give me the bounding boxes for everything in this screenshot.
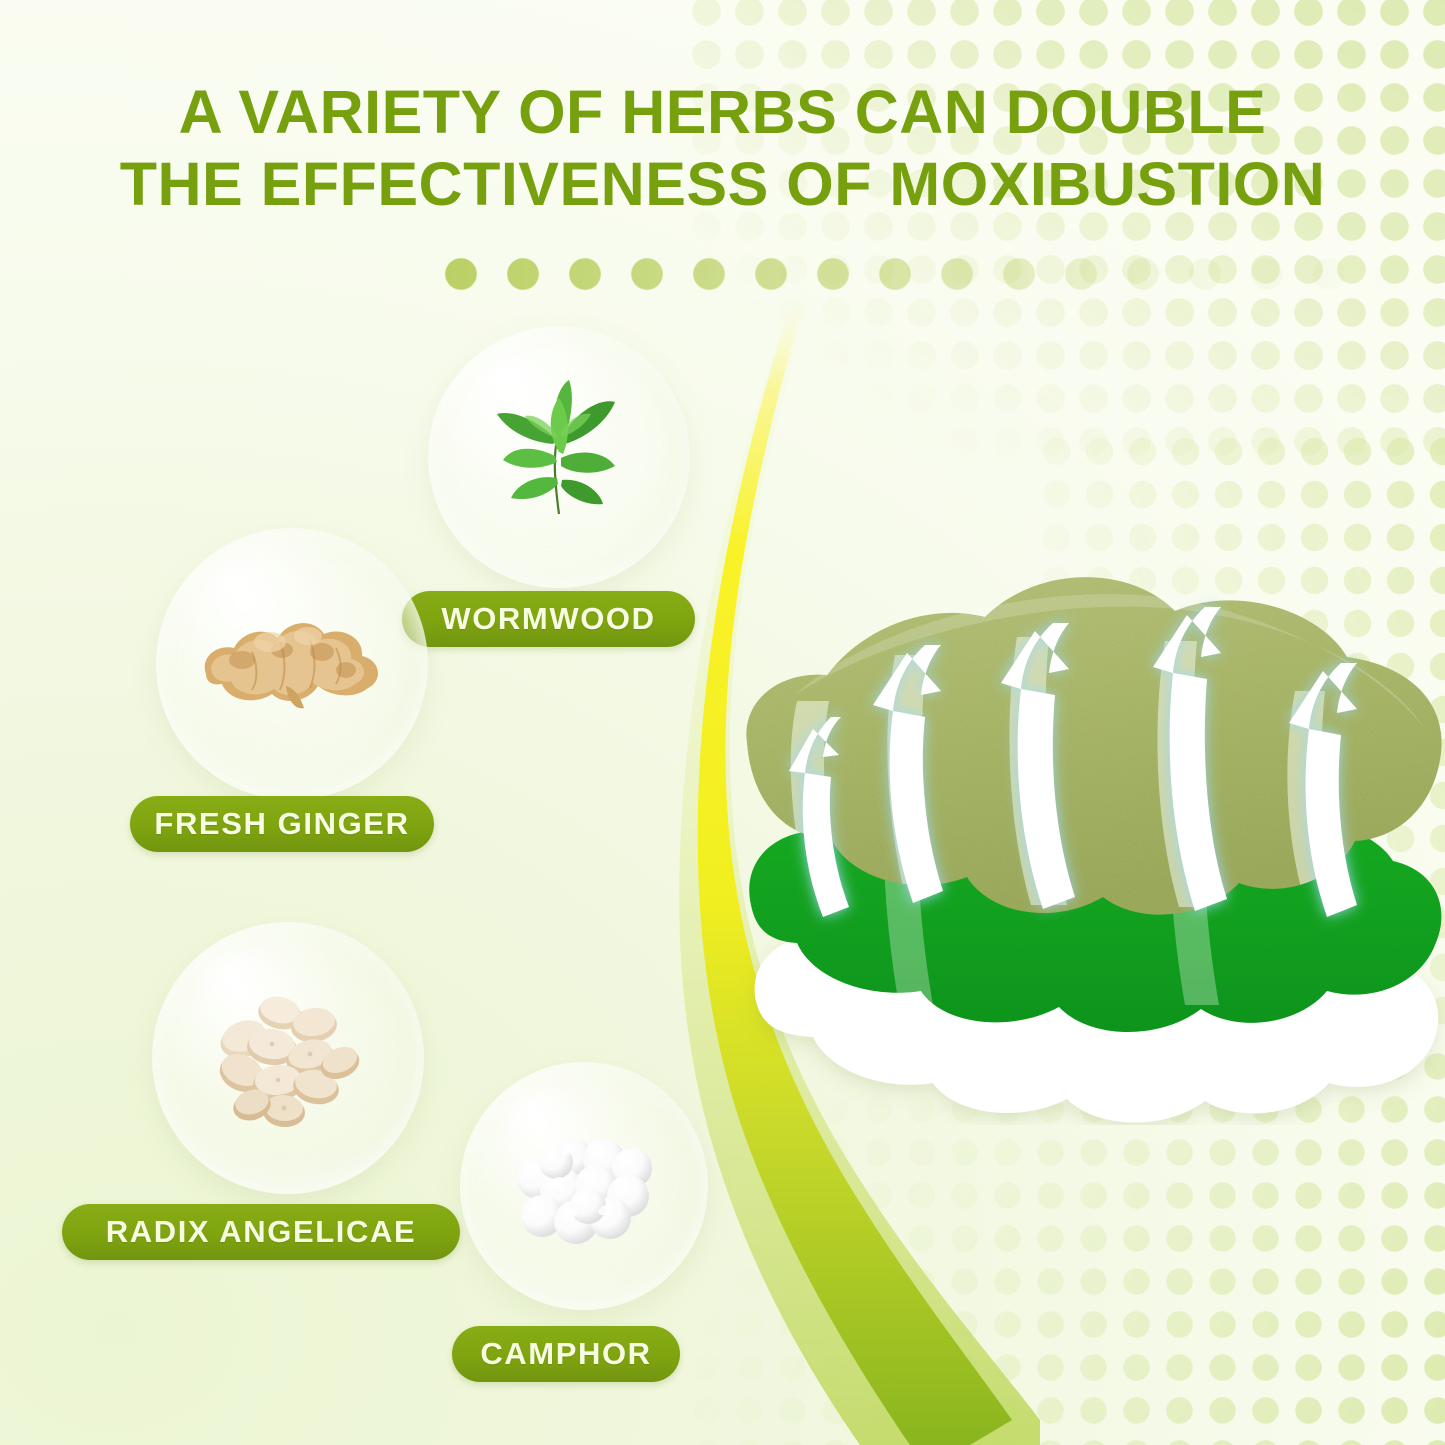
ingredient-bubble-radix-angelicae[interactable] [152,922,424,1194]
ingredient-label-fresh-ginger: FRESH GINGER [130,796,434,852]
ingredient-bubble-fresh-ginger[interactable] [156,528,428,800]
ingredient-bubble-camphor[interactable] [460,1062,708,1310]
angelica-root-slices-icon [152,922,424,1194]
ginger-root-icon [156,528,428,800]
wormwood-leaf-icon [428,326,690,588]
layered-moxibustion-patch [735,505,1445,1125]
camphor-balls-icon [460,1062,708,1310]
ingredient-label-radix-angelicae: RADIX ANGELICAE [62,1204,460,1260]
infographic-canvas: A VARIETY OF HERBS CAN DOUBLE THE EFFECT… [0,0,1445,1445]
ingredient-label-wormwood: WORMWOOD [402,591,695,647]
ingredient-label-camphor: CAMPHOR [452,1326,680,1382]
ingredient-bubble-wormwood[interactable] [428,326,690,588]
